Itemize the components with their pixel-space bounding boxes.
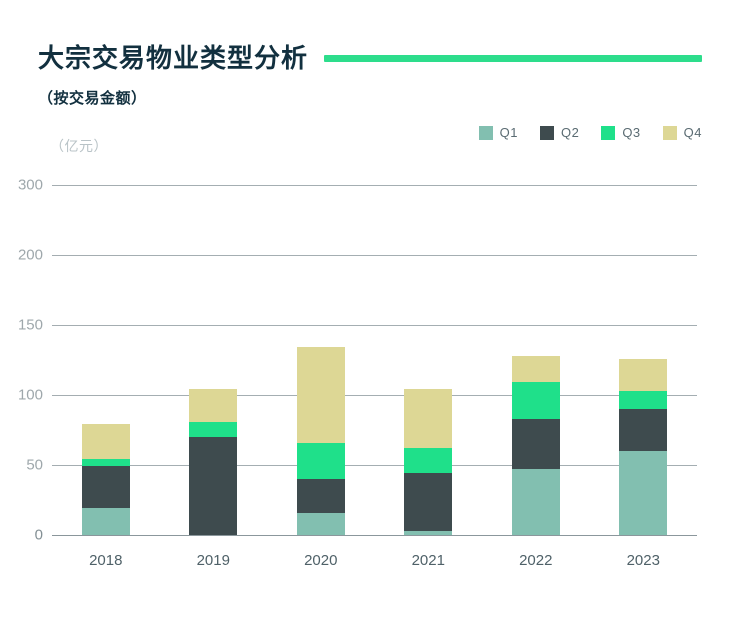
bar-segment-q2-2019[interactable] [189,437,237,535]
y-axis-unit-label: （亿元） [50,136,108,156]
legend-item-q3[interactable]: Q3 [601,125,640,140]
bar-segment-q1-2022[interactable] [512,469,560,535]
legend-item-q4[interactable]: Q4 [663,125,702,140]
chart-page: 大宗交易物业类型分析 （按交易金额） Q1Q2Q3Q4 （亿元） 0501001… [0,0,740,633]
chart-legend: Q1Q2Q3Q4 [479,125,702,140]
x-axis-tick-label: 2021 [412,552,445,569]
bar-segment-q3-2018[interactable] [82,459,130,466]
x-axis-tick-label: 2018 [89,552,122,569]
bar-group-2022[interactable]: 2022 [512,185,560,535]
y-axis-tick-label: 100 [18,387,43,404]
x-axis-tick-label: 2019 [197,552,230,569]
x-axis-tick-label: 2020 [304,552,337,569]
legend-label: Q4 [684,125,702,140]
x-axis-tick-label: 2023 [627,552,660,569]
y-axis-tick-label: 150 [18,317,43,334]
bar-stack [404,389,452,535]
bar-group-2018[interactable]: 2018 [82,185,130,535]
bar-stack [82,424,130,535]
bar-stack [297,347,345,535]
bar-segment-q1-2018[interactable] [82,508,130,535]
bar-series-container: 201820192020202120222023 [52,185,697,535]
legend-label: Q3 [622,125,640,140]
bar-stack [619,359,667,535]
y-axis-tick-label: 200 [18,247,43,264]
bar-segment-q4-2021[interactable] [404,389,452,448]
page-title: 大宗交易物业类型分析 [38,38,308,75]
bar-segment-q2-2020[interactable] [297,479,345,513]
legend-label: Q1 [500,125,518,140]
bar-segment-q2-2022[interactable] [512,419,560,469]
bar-segment-q1-2021[interactable] [404,531,452,535]
legend-label: Q2 [561,125,579,140]
legend-swatch-q3-icon [601,126,615,140]
y-axis-tick-label: 300 [18,177,43,194]
legend-swatch-q4-icon [663,126,677,140]
x-axis-tick-label: 2022 [519,552,552,569]
bar-segment-q4-2022[interactable] [512,356,560,383]
chart-subtitle: （按交易金额） [38,87,702,108]
bar-segment-q4-2023[interactable] [619,359,667,391]
bar-segment-q3-2023[interactable] [619,391,667,409]
gridline-0: 0 [52,535,697,536]
bar-segment-q4-2019[interactable] [189,389,237,421]
bar-segment-q2-2023[interactable] [619,409,667,451]
bar-group-2020[interactable]: 2020 [297,185,345,535]
bar-segment-q4-2018[interactable] [82,424,130,459]
bar-segment-q3-2022[interactable] [512,382,560,418]
bar-stack [512,356,560,535]
legend-swatch-q2-icon [540,126,554,140]
bar-segment-q2-2018[interactable] [82,466,130,508]
plot-area: 050100150200300 201820192020202120222023 [52,185,697,537]
bar-segment-q1-2020[interactable] [297,513,345,535]
legend-item-q1[interactable]: Q1 [479,125,518,140]
y-axis-tick-label: 0 [35,527,43,544]
bar-group-2021[interactable]: 2021 [404,185,452,535]
bar-segment-q2-2021[interactable] [404,473,452,530]
bar-segment-q1-2023[interactable] [619,451,667,535]
bar-group-2023[interactable]: 2023 [619,185,667,535]
bar-segment-q3-2019[interactable] [189,422,237,437]
legend-item-q2[interactable]: Q2 [540,125,579,140]
bar-group-2019[interactable]: 2019 [189,185,237,535]
bar-segment-q3-2020[interactable] [297,443,345,479]
legend-swatch-q1-icon [479,126,493,140]
chart-header: 大宗交易物业类型分析 （按交易金额） [38,38,702,108]
y-axis-tick-label: 50 [26,457,43,474]
title-accent-rule [324,55,702,62]
bar-segment-q4-2020[interactable] [297,347,345,442]
title-row: 大宗交易物业类型分析 [38,38,702,75]
bar-segment-q3-2021[interactable] [404,448,452,473]
bar-stack [189,389,237,535]
